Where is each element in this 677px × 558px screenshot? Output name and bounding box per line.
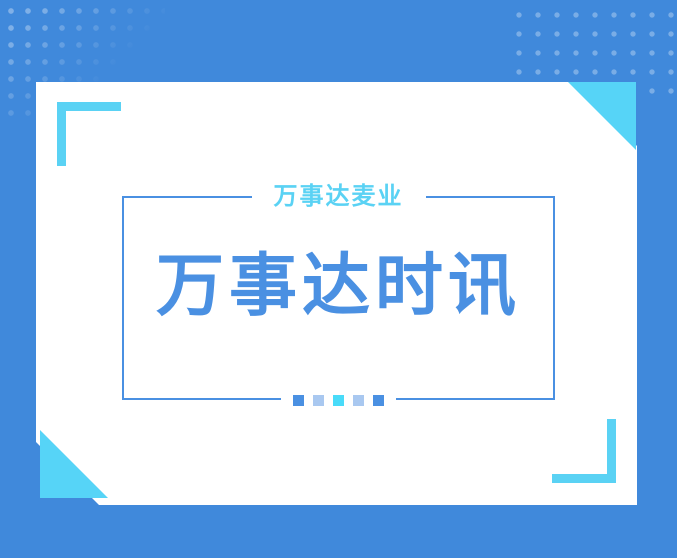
corner-bracket-icon-bottom-right: [552, 419, 616, 483]
bracket-vertical-arm: [607, 419, 616, 483]
poster-banner: 万事达麦业 万事达时讯: [0, 0, 677, 558]
subtitle: 万事达麦业: [252, 175, 426, 217]
bracket-horizontal-arm: [57, 102, 121, 111]
page-title: 万事达时讯: [122, 245, 555, 329]
divider-squares: [281, 383, 396, 417]
square-4: [353, 395, 364, 406]
divider-row: [122, 383, 555, 417]
square-1: [293, 395, 304, 406]
bracket-vertical-arm: [57, 102, 66, 166]
square-2: [313, 395, 324, 406]
subtitle-row: 万事达麦业: [122, 175, 555, 217]
corner-bracket-icon-top-left: [57, 102, 121, 166]
square-3: [333, 395, 344, 406]
square-5: [373, 395, 384, 406]
